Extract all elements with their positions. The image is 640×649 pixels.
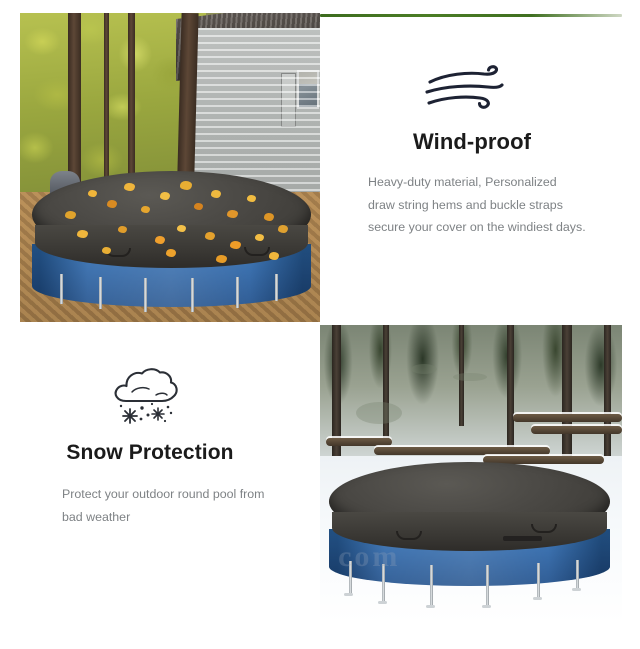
fallen-leaf	[88, 190, 97, 197]
pool-foot	[572, 588, 581, 591]
description-line: Protect your outdoor round pool from	[62, 483, 310, 506]
snow-protection-title: Snow Protection	[18, 441, 320, 465]
wind-proof-description: Heavy-duty material, Personalized draw s…	[368, 171, 608, 239]
fallen-leaf	[177, 225, 186, 232]
wind-proof-title: Wind-proof	[322, 129, 622, 155]
fallen-leaf	[141, 206, 150, 213]
winter-pool-photo: com	[320, 325, 622, 622]
pool-leg	[275, 274, 278, 301]
pool-foot	[482, 605, 491, 608]
tree-trunk	[383, 325, 389, 444]
fallen-leaf	[124, 183, 135, 191]
snowflake	[152, 408, 164, 420]
fallen-leaf	[155, 236, 165, 244]
house-door	[281, 73, 296, 127]
fallen-leaf	[205, 232, 215, 240]
pool-leg	[191, 278, 194, 312]
pool-leg	[236, 277, 239, 308]
pool-leg	[60, 274, 63, 304]
fallen-leaf	[264, 213, 274, 221]
pool-leg	[144, 278, 147, 312]
fallen-leaf	[77, 230, 88, 238]
tree-trunk	[562, 325, 572, 468]
tree-trunk	[104, 13, 109, 180]
snow-cloud-icon-container	[18, 361, 320, 427]
wind-icon	[424, 65, 520, 117]
snow-protection-description: Protect your outdoor round pool from bad…	[62, 483, 310, 528]
autumn-scene	[20, 13, 320, 322]
cover-handle	[244, 247, 270, 256]
fallen-log	[513, 414, 622, 422]
snow-cloud-icon	[108, 361, 184, 427]
wind-proof-feature-panel: Wind-proof Heavy-duty material, Personal…	[322, 18, 622, 322]
house-window	[297, 70, 319, 109]
fallen-leaf	[247, 195, 256, 202]
fallen-leaf	[278, 225, 288, 233]
tree-trunk	[604, 325, 611, 456]
green-divider-rule	[320, 14, 622, 17]
pool-foot	[344, 593, 353, 596]
fallen-leaf	[216, 255, 227, 263]
description-line: secure your cover on the windiest days.	[368, 216, 608, 239]
pool-foot	[533, 597, 542, 600]
window-curtain	[299, 72, 317, 84]
fallen-log	[531, 426, 622, 434]
snow-protection-feature-panel: Snow Protection Protect your outdoor rou…	[18, 325, 320, 622]
dark-brush	[453, 373, 487, 381]
fallen-log	[374, 447, 549, 455]
autumn-pool-photo	[20, 13, 320, 322]
pool-leg	[99, 277, 102, 310]
description-line: draw string hems and buckle straps	[368, 194, 608, 217]
fallen-leaf	[102, 247, 111, 254]
pool-foot	[426, 605, 435, 608]
fallen-log	[326, 438, 392, 446]
tree-trunk	[507, 325, 514, 450]
fallen-leaf	[211, 190, 221, 198]
tree-trunk	[128, 13, 135, 192]
winter-scene: com	[320, 325, 622, 622]
description-line: bad weather	[62, 506, 310, 529]
covered-pool	[32, 171, 311, 307]
description-line: Heavy-duty material, Personalized	[368, 171, 608, 194]
snowflake	[123, 409, 137, 423]
product-feature-collage: Wind-proof Heavy-duty material, Personal…	[0, 0, 640, 649]
dark-brush	[411, 364, 437, 374]
wind-icon-container	[322, 65, 622, 117]
pool-foot	[378, 601, 387, 604]
image-watermark: com	[338, 540, 616, 574]
fallen-leaf	[194, 203, 203, 210]
